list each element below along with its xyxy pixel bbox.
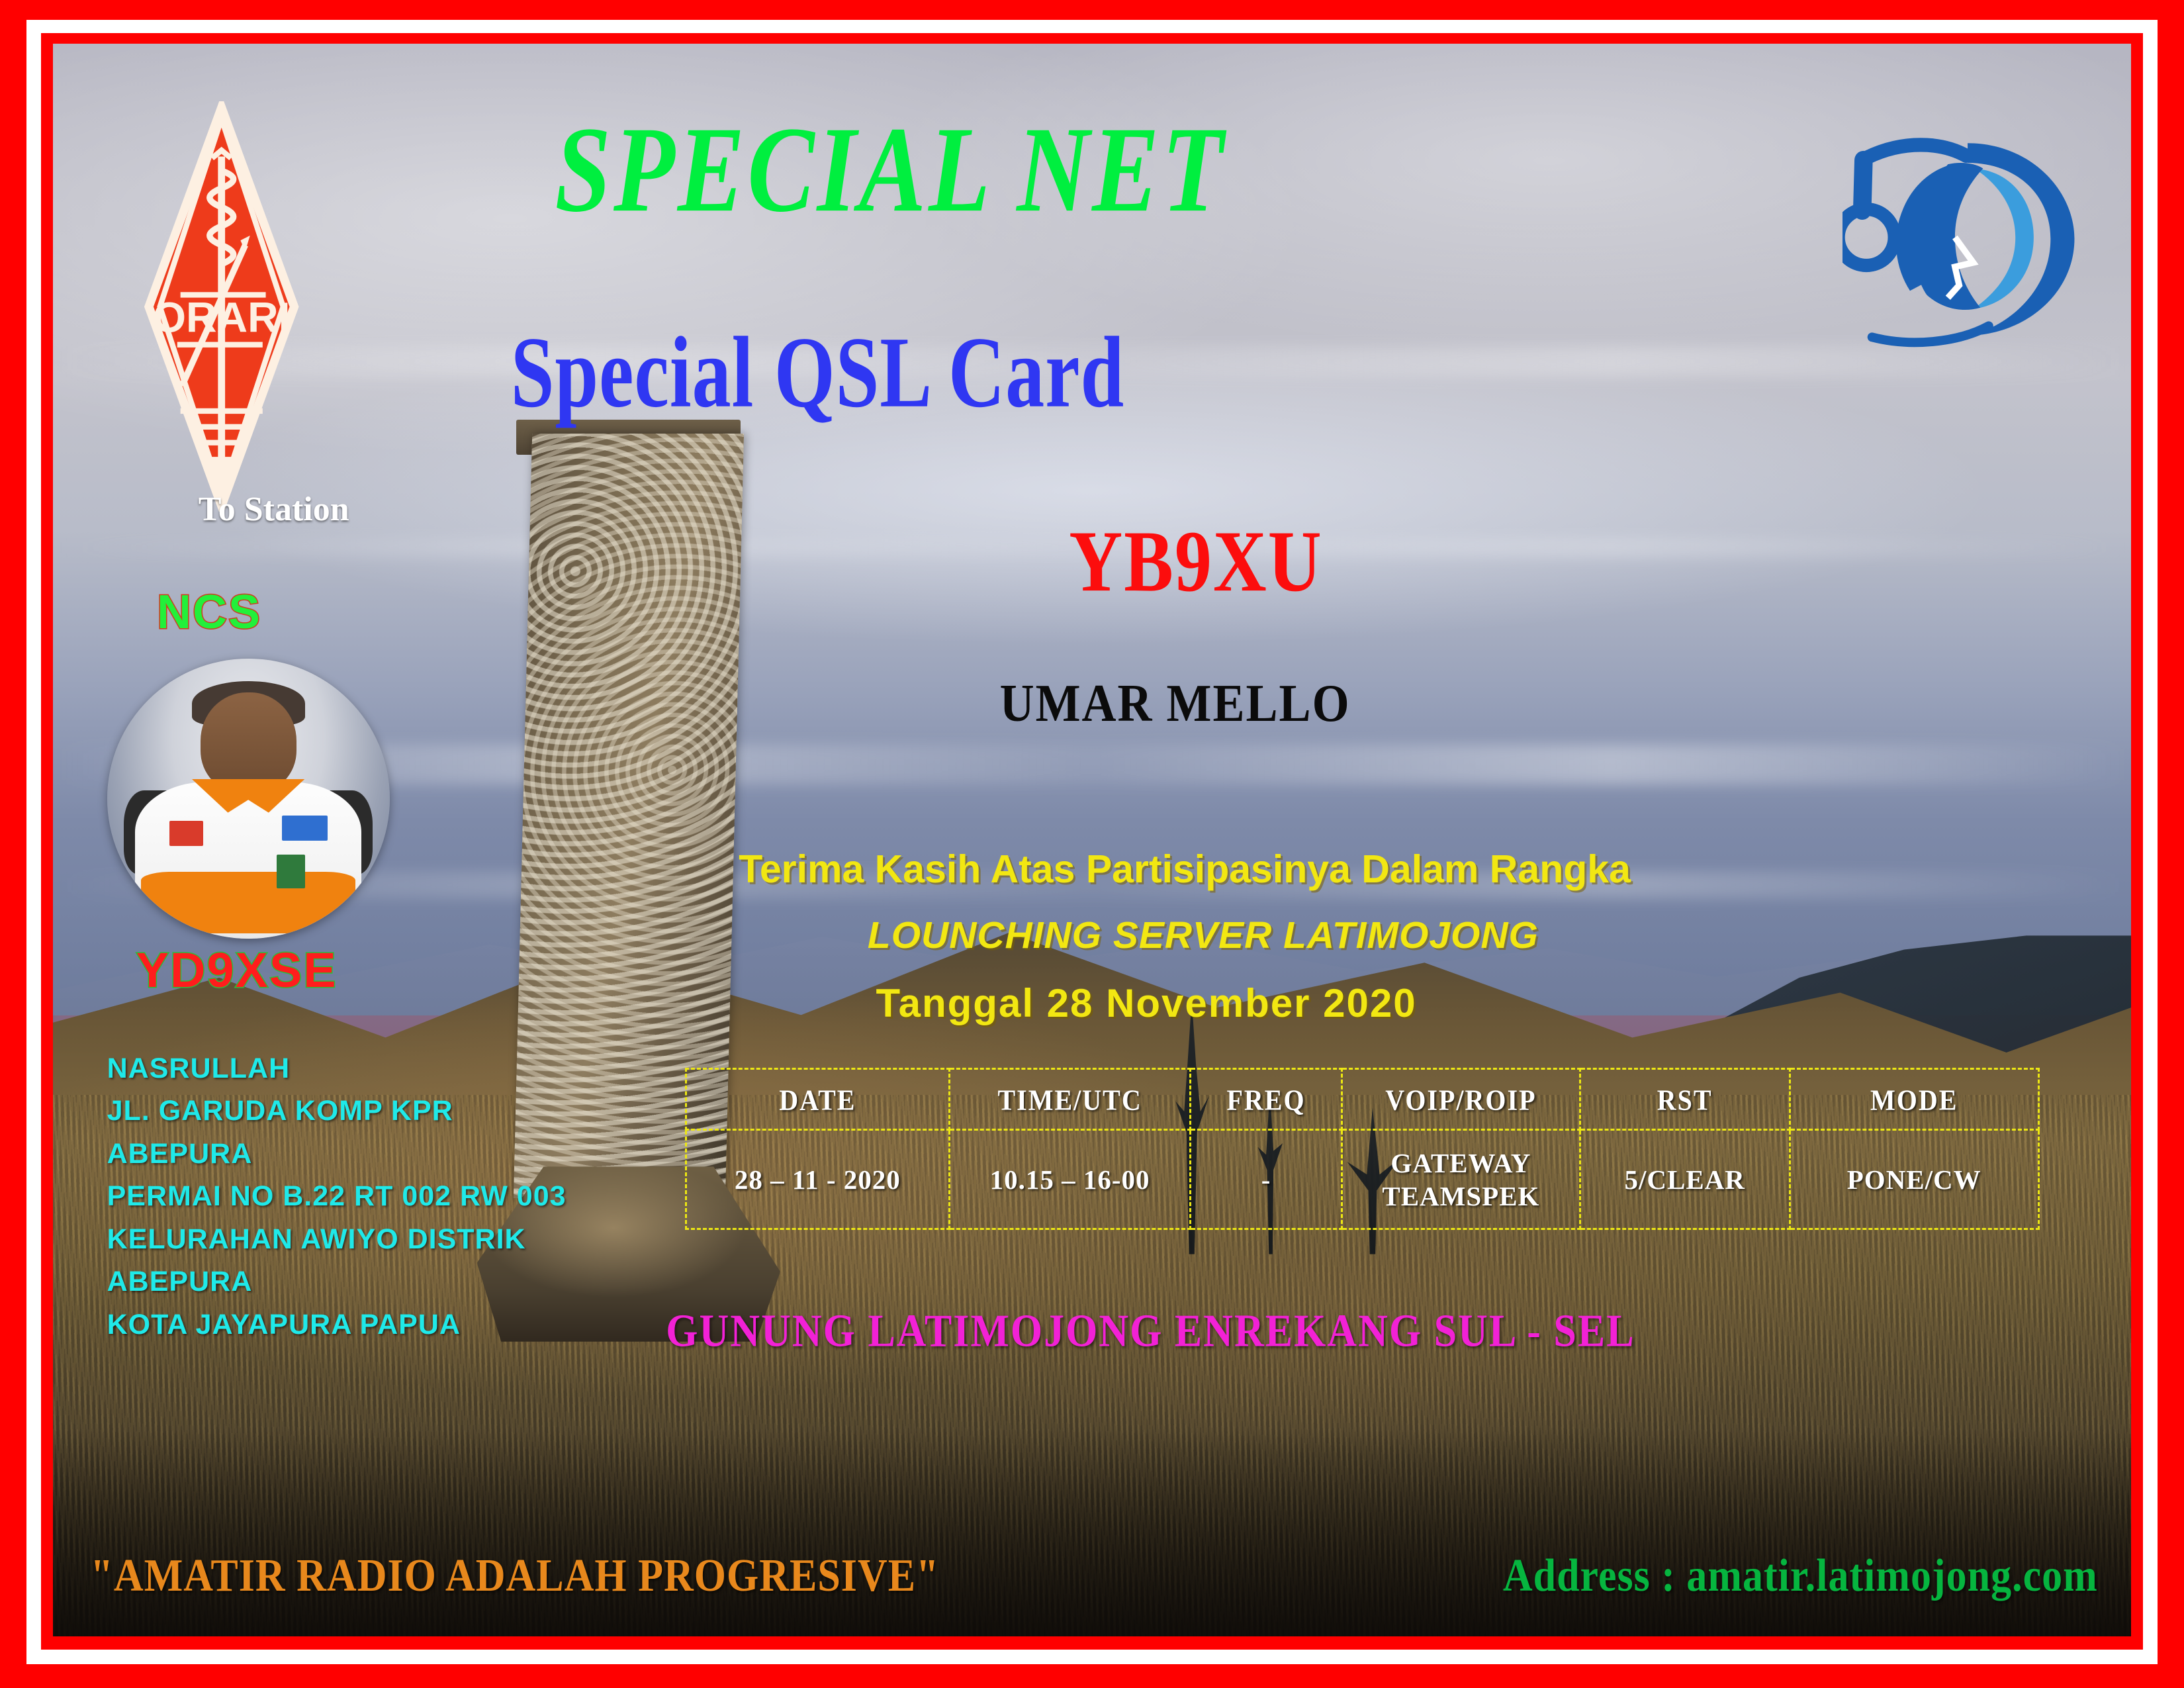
- cell-freq: -: [1191, 1130, 1342, 1229]
- address-line: ABEPURA: [107, 1260, 567, 1303]
- avatar-shirt-hem: [141, 872, 356, 933]
- avatar-patch-right: [282, 816, 327, 841]
- cell-voip-line1: GATEWAY: [1343, 1147, 1579, 1180]
- cell-rst: 5/CLEAR: [1580, 1130, 1790, 1229]
- address-line: PERMAI NO B.22 RT 002 RW 003: [107, 1175, 567, 1218]
- station-callsign: YB9XU: [864, 512, 1529, 612]
- table-header-date: DATE: [686, 1066, 950, 1133]
- cell-date: 28 – 11 - 2020: [686, 1130, 950, 1229]
- page-title-special-net: SPECIAL NET: [246, 107, 1535, 232]
- footer-motto: "AMATIR RADIO ADALAH PROGRESIVE": [91, 1550, 940, 1603]
- qsl-card: ORARI SPECIAL NET Special: [0, 0, 2184, 1688]
- address-line: KELURAHAN AWIYO DISTRIK: [107, 1218, 567, 1261]
- avatar-patch-left: [169, 821, 203, 846]
- cell-voip-line2: TEAMSPEK: [1343, 1180, 1579, 1213]
- event-location: GUNUNG LATIMOJONG ENREKANG SUL - SEL: [666, 1305, 1635, 1358]
- table-header-voip: VOIP/ROIP: [1342, 1066, 1580, 1133]
- ncs-callsign: YD9XSE: [136, 942, 338, 998]
- cell-voip-roip: GATEWAY TEAMSPEK: [1342, 1130, 1580, 1229]
- avatar-id-card: [277, 855, 305, 888]
- cell-mode: PONE/CW: [1790, 1130, 2038, 1229]
- table-header-mode: MODE: [1790, 1066, 2038, 1133]
- event-date-line: Tanggal 28 November 2020: [876, 980, 2019, 1026]
- address-line: ABEPURA: [107, 1133, 567, 1176]
- content-layer: ORARI SPECIAL NET Special: [53, 44, 2131, 1636]
- card-photo-area: ORARI SPECIAL NET Special: [53, 44, 2131, 1636]
- station-operator-name: UMAR MELLO: [822, 673, 1529, 734]
- address-line: JL. GARUDA KOMP KPR: [107, 1090, 567, 1133]
- table-header-rst: RST: [1580, 1066, 1790, 1133]
- qso-details-table: DATE TIME/UTC FREQ VOIP/ROIP RST MODE 28…: [685, 1068, 2040, 1230]
- label-to-station: To Station: [199, 490, 349, 529]
- address-line: KOTA JAYAPURA PAPUA: [107, 1303, 567, 1346]
- address-line: NASRULLAH: [107, 1047, 567, 1090]
- subtitle-special-qsl-card: Special QSL Card: [246, 321, 1389, 424]
- table-header-time: TIME/UTC: [950, 1066, 1191, 1133]
- event-subject-line: LOUNCHING SERVER LATIMOJONG: [868, 914, 2011, 957]
- footer-website: Address : amatir.latimojong.com: [1503, 1550, 2098, 1603]
- event-thanks-line: Terima Kasih Atas Partisipasinya Dalam R…: [739, 847, 1985, 892]
- headset-profile-logo: [1843, 98, 2081, 377]
- table-row: 28 – 11 - 2020 10.15 – 16-00 - GATEWAY T…: [686, 1130, 2038, 1229]
- avatar-face: [201, 692, 296, 793]
- table-header-row: DATE TIME/UTC FREQ VOIP/ROIP RST MODE: [686, 1069, 2038, 1130]
- cell-time-utc: 10.15 – 16-00: [950, 1130, 1191, 1229]
- mailing-address: NASRULLAH JL. GARUDA KOMP KPR ABEPURA PE…: [107, 1047, 567, 1346]
- table-header-freq: FREQ: [1191, 1066, 1342, 1133]
- avatar: [107, 659, 390, 939]
- ncs-label: NCS: [157, 585, 261, 639]
